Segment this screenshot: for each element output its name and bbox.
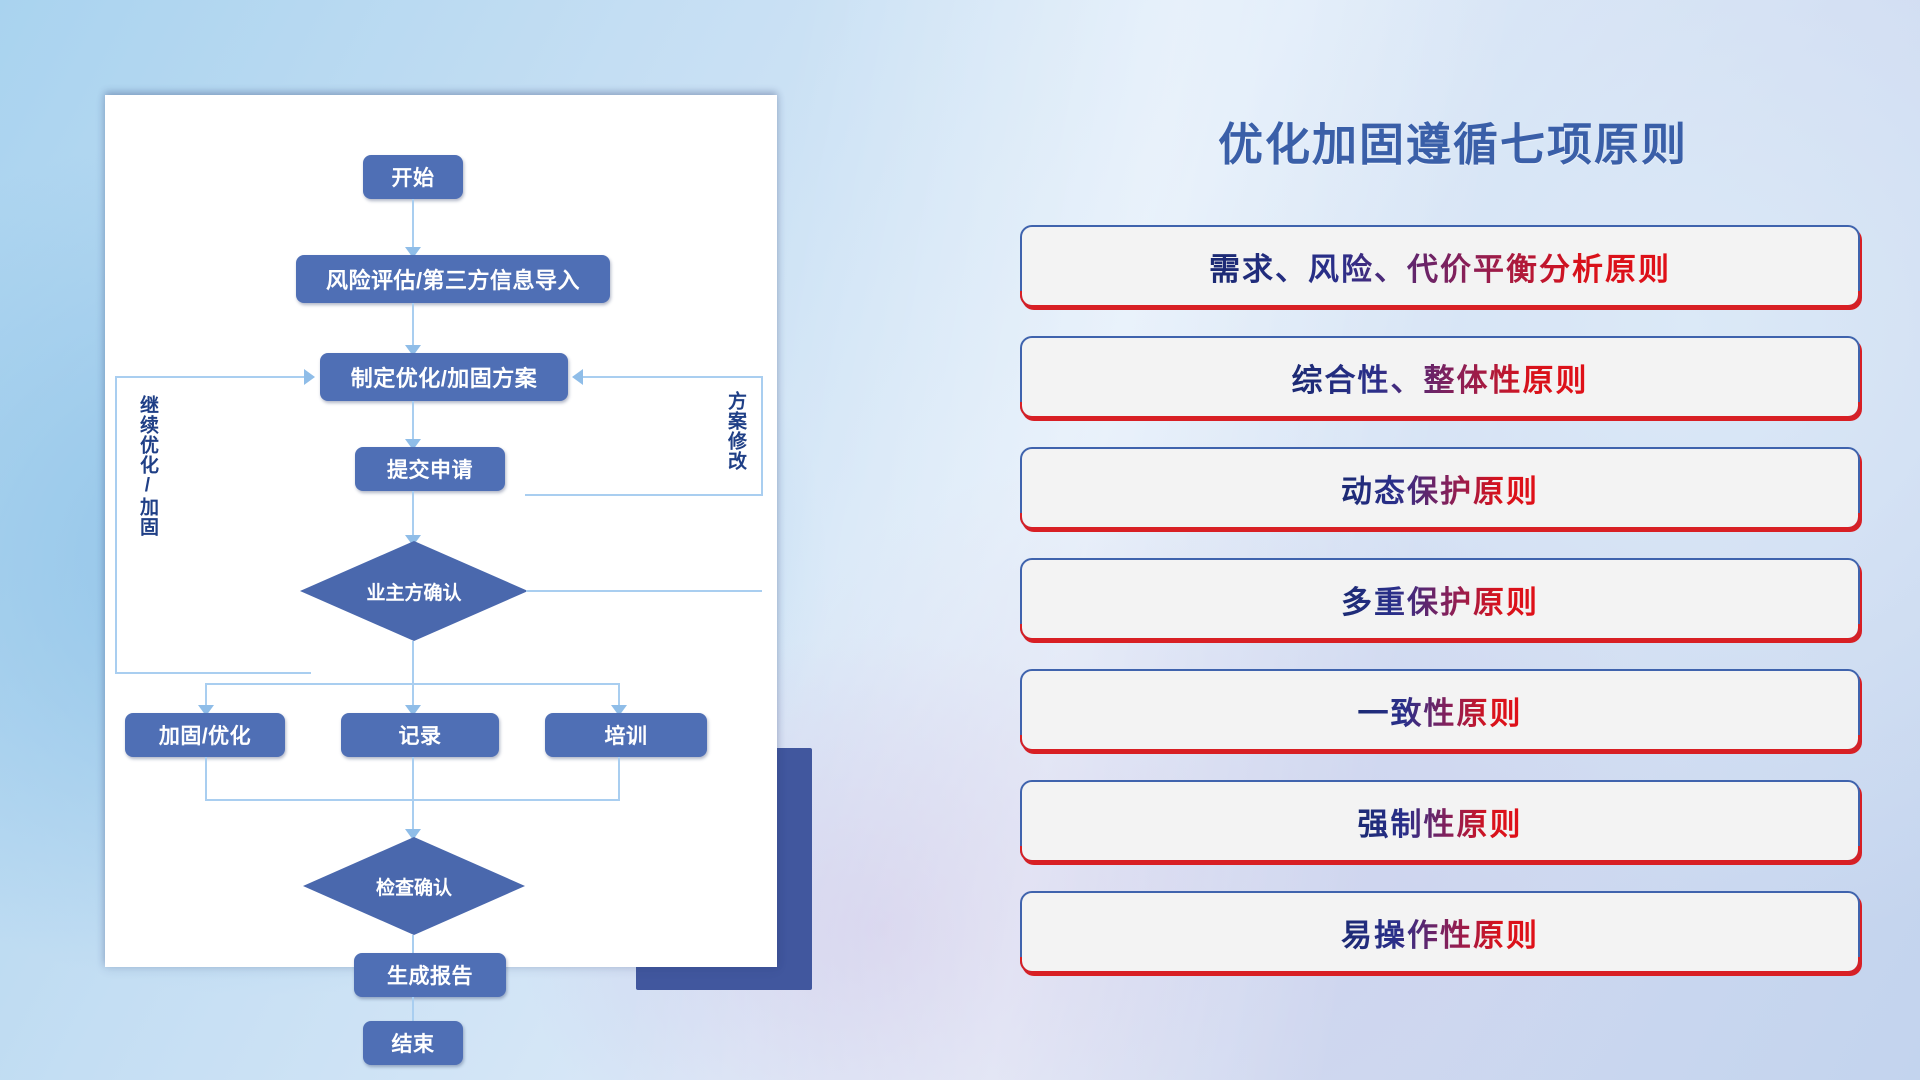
principle-card-label: 一致性原则 — [1358, 688, 1523, 733]
flow-node-end-label: 结束 — [392, 1028, 435, 1058]
flow-node-inspect-confirm-label: 检查确认 — [376, 873, 452, 900]
flow-node-make-plan-label: 制定优化/加固方案 — [351, 361, 538, 393]
panel-title: 优化加固遵循七项原则 — [1153, 108, 1753, 173]
principle-card[interactable]: 多重保护原则 — [1020, 558, 1860, 640]
principle-card[interactable]: 易操作性原则 — [1020, 891, 1860, 973]
flow-node-generate-report[interactable]: 生成报告 — [354, 953, 506, 997]
flow-node-make-plan[interactable]: 制定优化/加固方案 — [320, 353, 568, 401]
connector-submit-to-owner — [412, 491, 414, 541]
principle-card[interactable]: 需求、风险、代价平衡分析原则 — [1020, 225, 1860, 307]
connector-right-loop-vertical — [761, 376, 763, 496]
principle-card[interactable]: 一致性原则 — [1020, 669, 1860, 751]
principle-card-label: 综合性、整体性原则 — [1292, 355, 1589, 400]
flow-node-training[interactable]: 培训 — [545, 713, 707, 757]
principle-card-label: 需求、风险、代价平衡分析原则 — [1209, 244, 1671, 289]
flow-node-owner-confirm-label: 业主方确认 — [366, 578, 461, 605]
principles-card-list: 需求、风险、代价平衡分析原则 综合性、整体性原则 动态保护原则 多重保护原则 一… — [1020, 225, 1860, 1002]
principle-card[interactable]: 综合性、整体性原则 — [1020, 336, 1860, 418]
connector-training-down — [618, 757, 620, 801]
flow-node-submit-application[interactable]: 提交申请 — [355, 447, 505, 491]
edge-label-left-loop-text: 继续优化/加固 — [137, 395, 158, 537]
arrowhead-left-loop-into-plan — [304, 369, 315, 385]
connector-right-loop-horizontal-top — [583, 376, 763, 378]
principle-card-label: 多重保护原则 — [1341, 577, 1539, 622]
connector-left-loop-horizontal-top — [115, 376, 305, 378]
flow-node-reinforce[interactable]: 加固/优化 — [125, 713, 285, 757]
connector-owner-to-right-loop — [526, 590, 762, 592]
flow-node-end[interactable]: 结束 — [363, 1021, 463, 1065]
arrowhead-right-loop-into-plan — [572, 369, 583, 385]
connector-reinforce-down — [205, 757, 207, 801]
flowchart-panel: 开始 风险评估/第三方信息导入 制定优化/加固方案 继续优化/加固 方案修改 提… — [105, 95, 777, 967]
connector-left-loop-vertical — [115, 376, 117, 674]
edge-label-right-loop-text: 方案修改 — [725, 391, 746, 471]
principles-panel: 优化加固遵循七项原则 需求、风险、代价平衡分析原则 综合性、整体性原则 动态保护… — [1020, 90, 1860, 1010]
connector-owner-down — [412, 641, 414, 685]
flow-node-risk-assessment-label: 风险评估/第三方信息导入 — [326, 263, 580, 295]
edge-label-right-loop: 方案修改 — [725, 391, 745, 471]
connector-left-loop-horizontal-bottom — [115, 672, 311, 674]
flow-node-submit-application-label: 提交申请 — [387, 454, 473, 484]
principle-card-label: 动态保护原则 — [1341, 466, 1539, 511]
flow-node-inspect-confirm[interactable]: 检查确认 — [303, 837, 525, 935]
flow-node-start[interactable]: 开始 — [363, 155, 463, 199]
flow-node-training-label: 培训 — [605, 720, 648, 750]
flow-node-reinforce-label: 加固/优化 — [159, 720, 251, 750]
flow-node-generate-report-label: 生成报告 — [387, 960, 473, 990]
connector-start-to-risk — [412, 199, 414, 253]
principle-card[interactable]: 强制性原则 — [1020, 780, 1860, 862]
principle-card[interactable]: 动态保护原则 — [1020, 447, 1860, 529]
flow-node-start-label: 开始 — [392, 162, 435, 192]
flow-node-risk-assessment[interactable]: 风险评估/第三方信息导入 — [296, 255, 610, 303]
connector-record-down — [412, 757, 414, 801]
principle-card-label: 强制性原则 — [1358, 799, 1523, 844]
edge-label-left-loop: 继续优化/加固 — [137, 395, 157, 537]
flow-node-owner-confirm[interactable]: 业主方确认 — [300, 541, 528, 641]
connector-right-loop-horizontal-bottom — [525, 494, 763, 496]
connector-risk-to-plan — [412, 303, 414, 351]
flow-node-record-label: 记录 — [399, 720, 442, 750]
principle-card-label: 易操作性原则 — [1341, 910, 1539, 955]
flow-node-record[interactable]: 记录 — [341, 713, 499, 757]
